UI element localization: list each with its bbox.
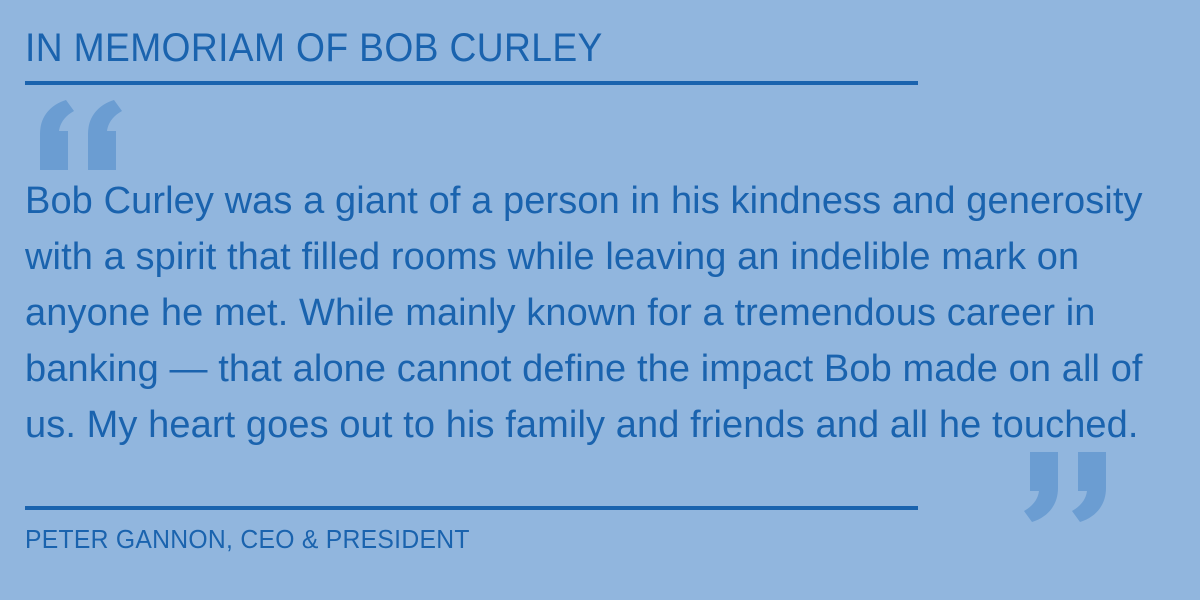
left-double-quote-icon [32, 100, 124, 170]
right-double-quote-icon [1022, 452, 1114, 522]
quote-text: Bob Curley was a giant of a person in hi… [25, 173, 1175, 453]
quote-line: anyone he met. While mainly known for a … [25, 285, 1175, 341]
quote-line: banking — that alone cannot define the i… [25, 341, 1175, 397]
quote-line: Bob Curley was a giant of a person in hi… [25, 173, 1175, 229]
title-divider-rule [25, 81, 918, 85]
attribution-divider-rule [25, 506, 918, 510]
quote-line: us. My heart goes out to his family and … [25, 397, 1175, 453]
quote-attribution: PETER GANNON, CEO & PRESIDENT [25, 524, 470, 554]
page-title: IN MEMORIAM OF BOB CURLEY [25, 26, 603, 70]
memoriam-quote-card: IN MEMORIAM OF BOB CURLEY Bob Curley was… [0, 0, 1200, 600]
quote-line: with a spirit that filled rooms while le… [25, 229, 1175, 285]
